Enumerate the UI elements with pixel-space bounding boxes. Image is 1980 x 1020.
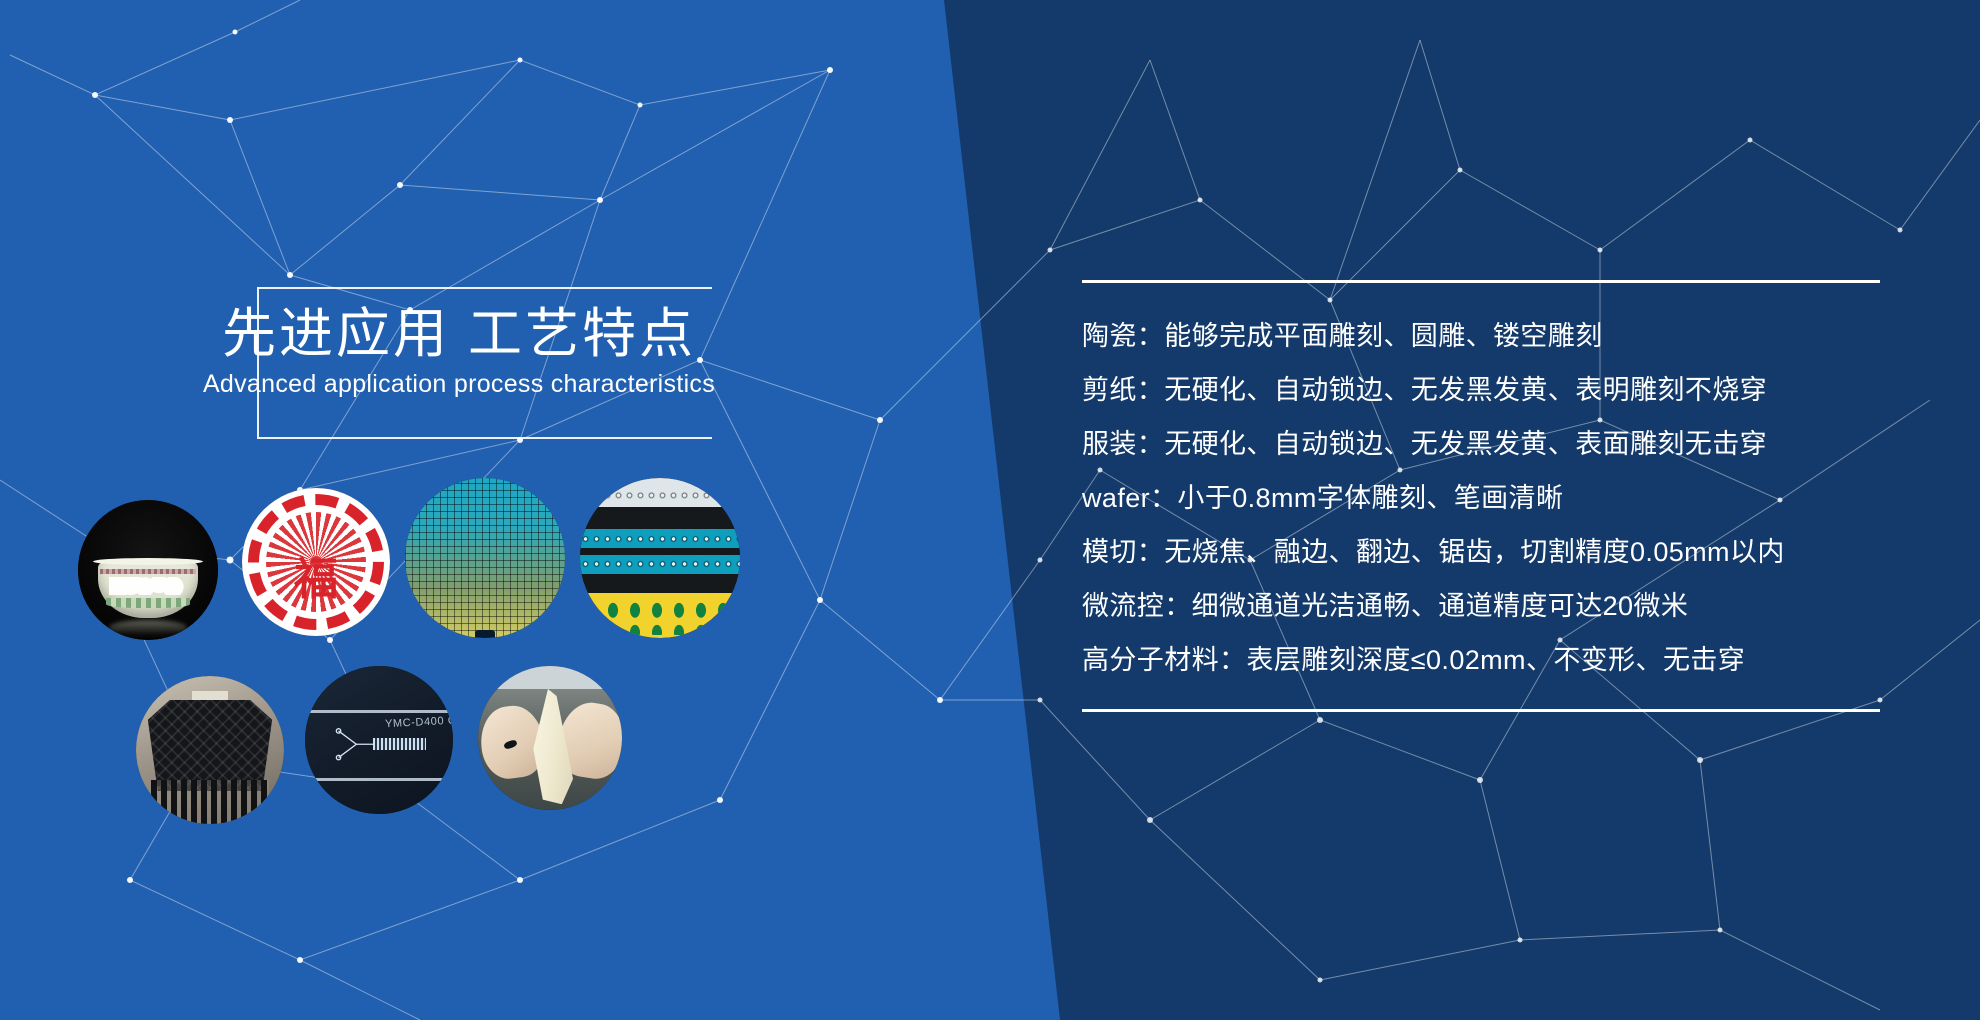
dot-row-3 xyxy=(580,556,740,572)
chip-edge-line-top xyxy=(305,710,453,713)
bowl-lower-pattern xyxy=(106,598,190,608)
ceramic-bowl-image xyxy=(78,500,218,640)
bowl-engraved-glyphs xyxy=(109,577,187,595)
band-dark-3 xyxy=(580,574,740,593)
papercut-fu-character: 福 xyxy=(294,558,338,602)
thumbnail-ceramic-bowl[interactable] xyxy=(78,500,218,640)
bowl-upper-pattern xyxy=(100,569,195,575)
spec-divider-bottom xyxy=(1082,709,1880,712)
micro-structure-image xyxy=(580,478,740,638)
green-cap-array xyxy=(580,596,740,634)
wafer-die-grid xyxy=(405,478,565,638)
thumbnail-micro-structure-bands[interactable] xyxy=(580,478,740,638)
chip-serpentine-channel xyxy=(373,738,426,750)
chip-part-label: YMC-D400 Chip xyxy=(385,714,453,731)
garment-image xyxy=(136,676,284,824)
spec-item-microfluidic: 微流控：细微通道光洁通畅、通道精度可达20微米 xyxy=(1082,579,1882,633)
thumbnail-red-papercut[interactable]: 福 xyxy=(242,488,390,636)
wafer-notch xyxy=(475,630,494,638)
spec-item-ceramic: 陶瓷：能够完成平面雕刻、圆雕、镂空雕刻 xyxy=(1082,309,1882,363)
spec-item-diecut: 模切：无烧焦、融边、翻边、锯齿，切割精度0.05mm以内 xyxy=(1082,525,1882,579)
garment-fringe xyxy=(151,780,269,824)
spec-item-apparel: 服装：无硬化、自动锁边、无发黑发黄、表面雕刻无击穿 xyxy=(1082,417,1882,471)
page-subtitle: Advanced application process characteris… xyxy=(189,367,729,401)
dot-row-1 xyxy=(580,489,740,502)
spec-item-papercut: 剪纸：无硬化、自动锁边、无发黑发黄、表明雕刻不烧穿 xyxy=(1082,363,1882,417)
chip-edge-line-bottom xyxy=(305,778,453,781)
microfluidic-chip-image: YMC-D400 Chip xyxy=(305,666,453,814)
title-frame: 先进应用 工艺特点 Advanced application process c… xyxy=(257,287,712,439)
spec-item-wafer: wafer：小于0.8mm字体雕刻、笔画清晰 xyxy=(1082,471,1882,525)
thumbnail-laser-cut-garment[interactable] xyxy=(136,676,284,824)
banner-root: 先进应用 工艺特点 Advanced application process c… xyxy=(0,0,1980,1020)
polymer-handling-image xyxy=(478,666,622,810)
silicon-wafer-image xyxy=(405,478,565,638)
bowl-reflection xyxy=(109,620,187,635)
band-dark-1 xyxy=(580,507,740,529)
papercut-image: 福 xyxy=(242,488,390,636)
title-text-group: 先进应用 工艺特点 Advanced application process c… xyxy=(189,303,729,401)
thumbnail-silicon-wafer[interactable] xyxy=(405,478,565,638)
thumbnail-microfluidic-chip[interactable]: YMC-D400 Chip xyxy=(305,666,453,814)
thumbnail-gloved-hands-polymer[interactable] xyxy=(478,666,622,810)
workbench-background xyxy=(478,666,622,689)
spec-panel: 陶瓷：能够完成平面雕刻、圆雕、镂空雕刻 剪纸：无硬化、自动锁边、无发黑发黄、表明… xyxy=(1082,280,1882,712)
dot-row-2 xyxy=(580,531,740,547)
garment-perforated-panel xyxy=(148,700,272,792)
page-title: 先进应用 工艺特点 xyxy=(189,303,729,365)
polymer-film-sheet xyxy=(530,689,573,804)
spec-item-polymer: 高分子材料：表层雕刻深度≤0.02mm、不变形、无击穿 xyxy=(1082,633,1882,687)
spec-list: 陶瓷：能够完成平面雕刻、圆雕、镂空雕刻 剪纸：无硬化、自动锁边、无发黑发黄、表明… xyxy=(1082,283,1882,709)
